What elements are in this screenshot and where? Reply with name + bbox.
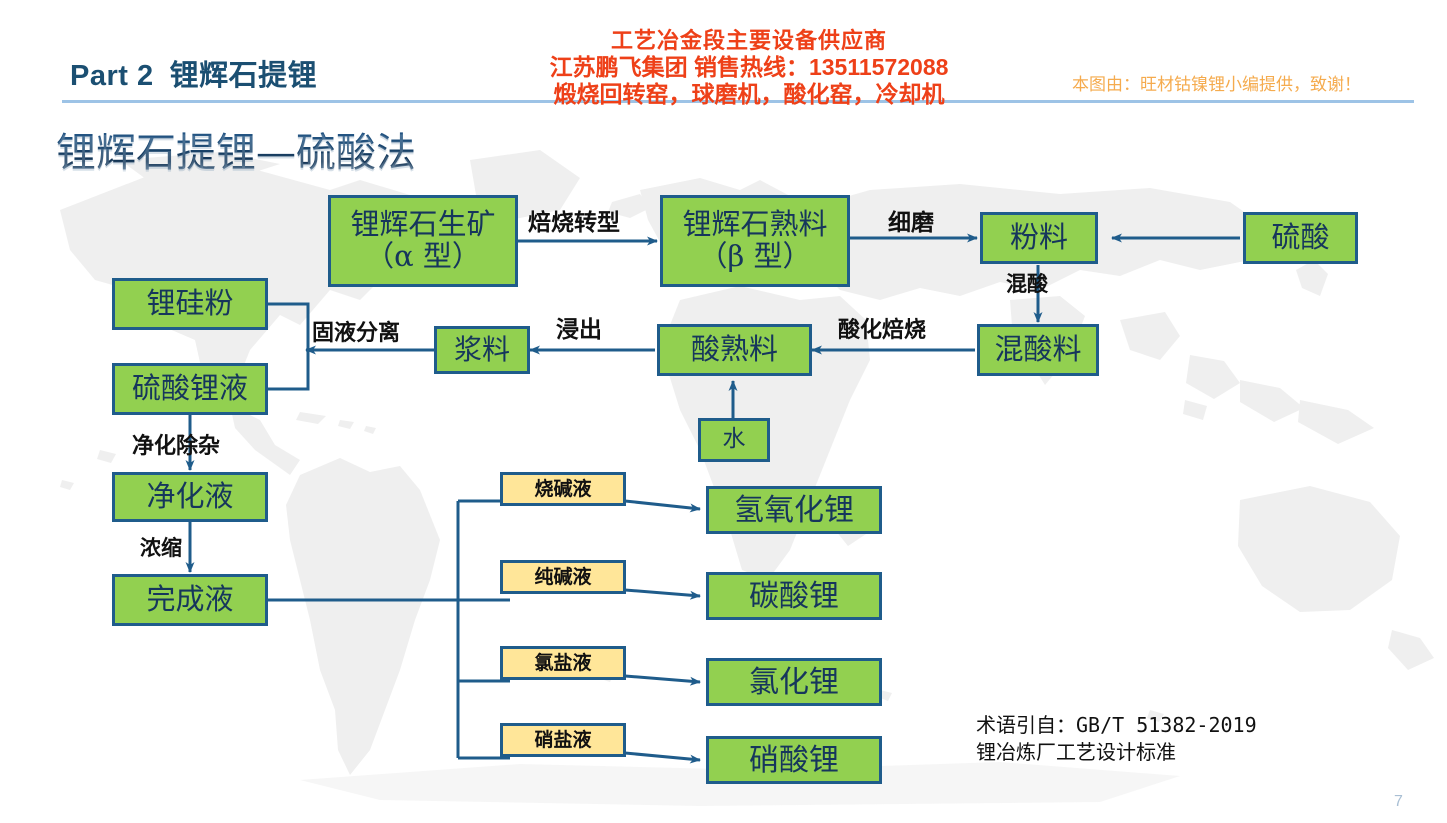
node-label: 硝盐液 bbox=[534, 730, 591, 751]
slide-canvas: Part 2锂辉石提锂 工艺冶金段主要设备供应商 江苏鹏飞集团 销售热线：135… bbox=[0, 0, 1447, 823]
node-slurry[interactable]: 浆料 bbox=[434, 326, 530, 374]
node-calcined-spodumene[interactable]: 锂辉石熟料 （β 型） bbox=[660, 195, 850, 287]
node-acid-mixture[interactable]: 混酸料 bbox=[977, 324, 1099, 376]
node-label: 氯化锂 bbox=[749, 666, 839, 699]
node-sulfuric-acid[interactable]: 硫酸 bbox=[1243, 212, 1358, 264]
node-label: 浆料 bbox=[454, 335, 510, 366]
node-lithium-carbonate[interactable]: 碳酸锂 bbox=[706, 572, 882, 620]
edge-label-roast-convert: 焙烧转型 bbox=[528, 203, 620, 237]
node-label: 完成液 bbox=[146, 584, 233, 616]
node-sublabel: （α 型） bbox=[365, 241, 481, 273]
node-acid-clinker[interactable]: 酸熟料 bbox=[657, 324, 812, 376]
node-label: 锂硅粉 bbox=[146, 288, 233, 320]
process-flow-diagram: 锂辉石生矿 （α 型） 锂辉石熟料 （β 型） 粉料 硫酸 混酸料 酸熟料 水 … bbox=[0, 0, 1447, 823]
node-label: 酸熟料 bbox=[691, 334, 778, 366]
edge-label-acid-mixing: 混酸 bbox=[1006, 268, 1048, 298]
node-label: 粉料 bbox=[1010, 222, 1068, 254]
node-label: 碳酸锂 bbox=[749, 580, 839, 613]
node-li-si-powder[interactable]: 锂硅粉 bbox=[112, 278, 268, 330]
node-powder[interactable]: 粉料 bbox=[980, 212, 1098, 264]
node-label: 硫酸 bbox=[1271, 222, 1329, 254]
node-label: 锂辉石生矿 bbox=[350, 209, 495, 241]
edge-label-solid-liquid-separation: 固液分离 bbox=[312, 315, 400, 347]
node-lithium-nitrate[interactable]: 硝酸锂 bbox=[706, 736, 882, 784]
node-label: 烧碱液 bbox=[534, 479, 591, 500]
node-label: 硝酸锂 bbox=[749, 744, 839, 777]
node-purified-liquid[interactable]: 净化液 bbox=[112, 472, 268, 522]
node-label: 水 bbox=[723, 427, 746, 452]
node-lithium-chloride[interactable]: 氯化锂 bbox=[706, 658, 882, 706]
node-sublabel: （β 型） bbox=[699, 241, 812, 273]
standard-reference-footnote: 术语引自：GB/T 51382-2019 锂冶炼厂工艺设计标准 bbox=[976, 712, 1257, 766]
edge-label-fine-grind: 细磨 bbox=[888, 203, 934, 237]
edge-label-acid-roasting: 酸化焙烧 bbox=[838, 312, 926, 344]
node-raw-spodumene[interactable]: 锂辉石生矿 （α 型） bbox=[328, 195, 518, 287]
node-label: 混酸料 bbox=[994, 334, 1081, 366]
node-chloride-salt-solution[interactable]: 氯盐液 bbox=[500, 646, 626, 680]
node-finished-liquid[interactable]: 完成液 bbox=[112, 574, 268, 626]
node-nitrate-salt-solution[interactable]: 硝盐液 bbox=[500, 723, 626, 757]
node-label: 氯盐液 bbox=[534, 653, 591, 674]
node-label: 锂辉石熟料 bbox=[682, 209, 827, 241]
node-label: 硫酸锂液 bbox=[132, 373, 248, 405]
node-lithium-sulfate-liquid[interactable]: 硫酸锂液 bbox=[112, 363, 268, 415]
edge-label-concentrate: 浓缩 bbox=[140, 532, 182, 562]
node-label: 纯碱液 bbox=[534, 567, 591, 588]
node-soda-ash-solution[interactable]: 纯碱液 bbox=[500, 560, 626, 594]
node-caustic-soda-solution[interactable]: 烧碱液 bbox=[500, 472, 626, 506]
node-lithium-hydroxide[interactable]: 氢氧化锂 bbox=[706, 486, 882, 534]
node-water[interactable]: 水 bbox=[698, 418, 770, 462]
node-label: 净化液 bbox=[146, 481, 233, 513]
node-label: 氢氧化锂 bbox=[734, 494, 854, 527]
edge-label-purify-impurity: 净化除杂 bbox=[132, 428, 220, 460]
edge-label-leaching: 浸出 bbox=[556, 310, 602, 344]
